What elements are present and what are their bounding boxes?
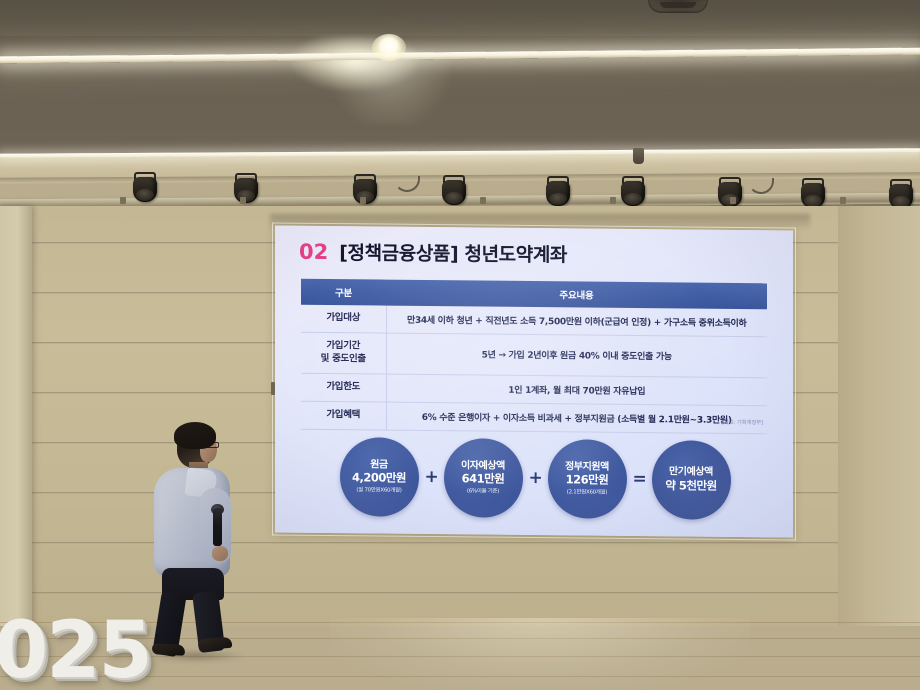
bubble-label: 원금	[370, 459, 388, 471]
bubble-label: 정부지원액	[565, 461, 609, 473]
row-label-eligibility: 가입대상	[301, 305, 386, 333]
stage-light-par	[233, 173, 259, 203]
bubble-amount: 641만원	[462, 473, 505, 487]
formula-bubble-subsidy: 정부지원액 126만원 (2.1만원X60개월)	[548, 439, 627, 519]
presenter	[140, 422, 260, 652]
screen-mount-clip-icon	[271, 382, 275, 395]
stage-light-cable	[748, 178, 774, 194]
bubble-label: 만기예상액	[669, 466, 713, 478]
slide-header: 02 [정책금융상품] 청년도약계좌	[299, 238, 769, 273]
ceiling-spot-bulb-icon	[372, 34, 406, 61]
slide-title: [정책금융상품] 청년도약계좌	[339, 238, 567, 267]
bubble-note: (6%이율 기준)	[467, 488, 499, 495]
slide-number: 02	[299, 240, 328, 264]
maturity-formula: 원금 4,200만원 (월 70만원X60개월) + 이자예상액 641만원 (…	[317, 434, 753, 522]
projection-screen: 02 [정책금융상품] 청년도약계좌 구분 주요내용 가입대상 만34세 이하 …	[275, 226, 793, 538]
row-value-term: 5년 → 가입 2년이후 원금 40% 이내 중도인출 가능	[386, 333, 767, 377]
presenter-shoe-back	[152, 643, 186, 656]
table-header-category: 구분	[301, 279, 386, 306]
row-label-benefit: 가입혜택	[301, 401, 386, 430]
bubble-note: (2.1만원X60개월)	[567, 489, 607, 496]
formula-bubble-interest: 이자예상액 641만원 (6%이율 기준)	[444, 438, 523, 518]
product-info-table: 구분 주요내용 가입대상 만34세 이하 청년 + 직전년도 소득 7,500만…	[301, 279, 767, 434]
operator-equals: =	[633, 469, 646, 489]
operator-plus: +	[425, 467, 438, 487]
bubble-label: 이자예상액	[461, 460, 505, 472]
row-label-term: 가입기간 및 중도인출	[301, 332, 386, 373]
stage-light-cable	[394, 176, 420, 192]
stage-light-par	[800, 178, 826, 208]
row-label-limit: 가입한도	[301, 373, 386, 402]
stage-light-par	[545, 176, 571, 206]
floor-reflection	[330, 618, 750, 690]
ceiling-spot-spill	[330, 52, 450, 124]
stage-light-par	[888, 179, 914, 209]
photo-scene: 02 [정책금융상품] 청년도약계좌 구분 주요내용 가입대상 만34세 이하 …	[0, 0, 920, 690]
formula-bubble-maturity: 만기예상액 약 5천만원	[652, 440, 731, 520]
presenter-shoe-front	[198, 637, 233, 650]
table-row: 가입기간 및 중도인출 5년 → 가입 2년이후 원금 40% 이내 중도인출 …	[301, 332, 767, 377]
slide-surface: 02 [정책금융상품] 청년도약계좌 구분 주요내용 가입대상 만34세 이하 …	[275, 226, 793, 538]
table-row: 가입한도 1인 1계좌, 월 최대 70만원 자유납입	[301, 373, 767, 405]
presenter-hand	[212, 546, 228, 561]
stage-light-par	[132, 172, 158, 202]
formula-bubble-principal: 원금 4,200만원 (월 70만원X60개월)	[340, 437, 419, 517]
row-label-term-line1: 가입기간	[326, 340, 360, 351]
bubble-amount: 4,200만원	[352, 472, 406, 486]
bubble-note: (월 70만원X60개월)	[356, 487, 401, 494]
table-header-details: 주요내용	[386, 280, 767, 310]
row-value-benefit: 6% 수준 은행이자 + 이자소득 비과세 + 정부지원금 (소득별 월 2.1…	[386, 402, 767, 434]
operator-plus: +	[529, 468, 542, 488]
bubble-amount: 약 5천만원	[665, 479, 716, 493]
wall-left-pillar	[0, 206, 32, 626]
presenter-glasses-icon	[206, 442, 219, 448]
ceiling-back-panel	[0, 0, 920, 36]
sprinkler-head-icon	[633, 148, 644, 164]
source-note: [자료: 기획재정부]	[722, 418, 763, 426]
stage-light-par	[620, 176, 646, 206]
microphone-icon	[213, 508, 222, 546]
row-value-eligibility: 만34세 이하 청년 + 직전년도 소득 7,500만원 이하(군급여 인정) …	[386, 306, 767, 337]
row-label-term-line2: 및 중도인출	[321, 353, 366, 364]
stage-light-par	[441, 175, 467, 205]
table-row: 가입혜택 6% 수준 은행이자 + 이자소득 비과세 + 정부지원금 (소득별 …	[301, 401, 767, 433]
bubble-amount: 126만원	[566, 474, 609, 488]
wall-right-pillar	[838, 206, 920, 626]
row-value-limit: 1인 1계좌, 월 최대 70만원 자유납입	[386, 374, 767, 406]
floor-numerals: 025	[0, 612, 114, 690]
ceiling-vent-icon	[648, 0, 708, 13]
